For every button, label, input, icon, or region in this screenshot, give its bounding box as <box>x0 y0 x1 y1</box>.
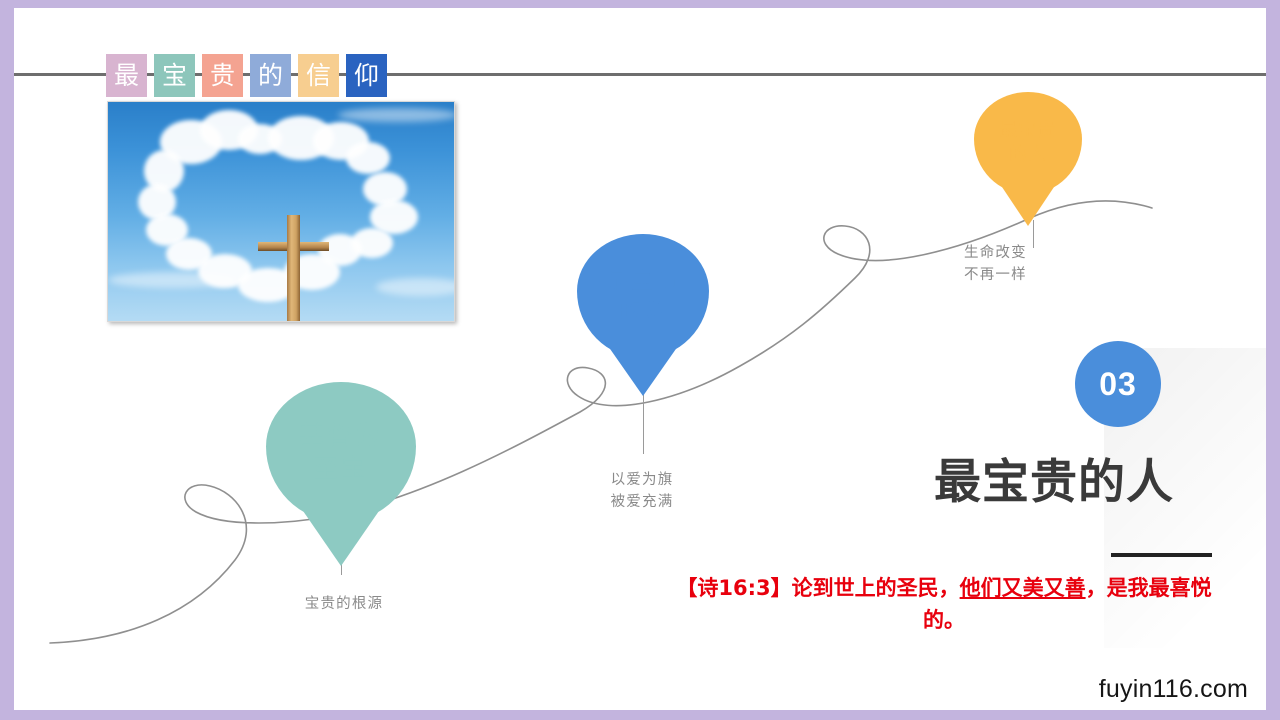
caption-pin-teal: 宝贵的根源 <box>269 593 419 615</box>
heading-underline-rule <box>1111 553 1212 557</box>
pin-blue-line-2: 的爱 <box>606 296 681 326</box>
slide-frame: 最 宝 贵 的 信 仰 <box>0 0 1280 720</box>
site-watermark: fuyin116.com <box>1099 675 1248 704</box>
section-number-badge: 03 <box>1075 341 1161 427</box>
title-char-block-3: 贵 <box>202 54 243 97</box>
slide-canvas: 最 宝 贵 的 信 仰 <box>14 8 1266 710</box>
verse-part-1: 论到世上的圣民， <box>792 576 960 600</box>
title-char-block-6: 仰 <box>346 54 387 97</box>
pin-teal-line-1: 基督为 <box>299 419 383 452</box>
caption-pin-blue: 以爱为旗 被爱充满 <box>572 469 712 514</box>
page-title: 最宝贵的人 <box>934 443 1174 512</box>
pin-blue-line-1: 最宝贵 <box>606 266 681 296</box>
caption-pin-orange: 生命改变 不再一样 <box>964 242 1139 287</box>
pin-most-precious-love: 最宝贵 的爱 <box>577 234 709 358</box>
title-char-block-4: 的 <box>250 54 291 97</box>
pin-orange-line-2: 的人 <box>1000 143 1057 167</box>
title-char-block-1: 最 <box>106 54 147 97</box>
verse-underlined: 他们又美又善 <box>960 576 1086 600</box>
pin-christ-treasure: 基督为 至宝 <box>266 382 416 522</box>
pin-orange-line-1: 最宝贵 <box>1000 119 1057 143</box>
scripture-verse: 【诗16:3】论到世上的圣民，他们又美又善，是我最喜悦的。 <box>659 573 1229 636</box>
cross-icon-post <box>287 215 300 321</box>
title-char-block-5: 信 <box>298 54 339 97</box>
cross-sky-photo <box>107 101 455 322</box>
section-number-text: 03 <box>1075 341 1161 427</box>
verse-reference: 【诗16:3】 <box>676 576 791 600</box>
pin-teal-line-2: 至宝 <box>299 452 383 485</box>
title-char-block-2: 宝 <box>154 54 195 97</box>
pin-most-precious-people: 最宝贵 的人 <box>974 92 1082 194</box>
slide-series-title: 最 宝 贵 的 信 仰 <box>106 54 387 97</box>
